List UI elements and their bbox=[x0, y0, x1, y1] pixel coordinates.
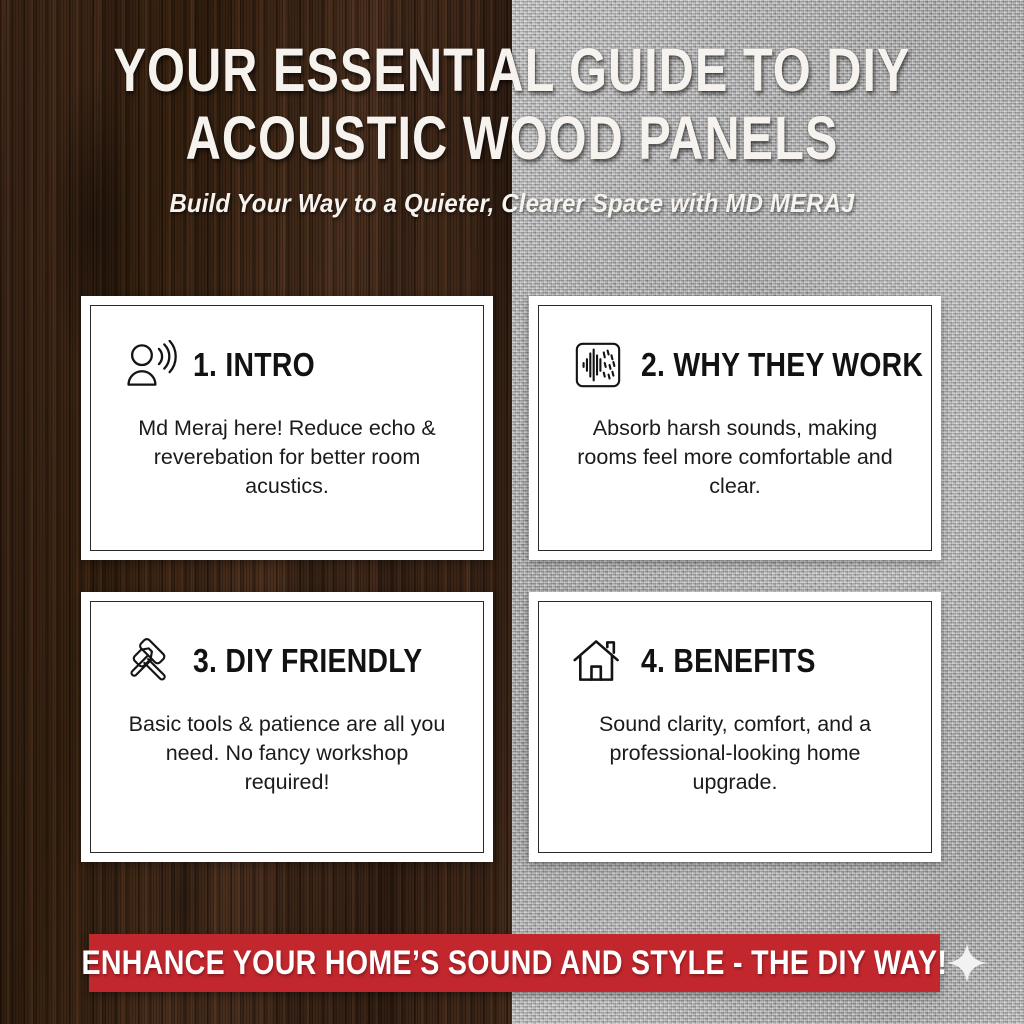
house-icon bbox=[571, 636, 625, 686]
sparkle-icon bbox=[946, 942, 988, 984]
infographic-poster: YOUR ESSENTIAL GUIDE TO DIY ACOUSTIC WOO… bbox=[0, 0, 1024, 1024]
poster-content: YOUR ESSENTIAL GUIDE TO DIY ACOUSTIC WOO… bbox=[0, 0, 1024, 1024]
card-intro: 1. INTRO Md Meraj here! Reduce echo & re… bbox=[81, 296, 493, 560]
card-header: 2. WHY THEY WORK bbox=[559, 340, 911, 390]
card-header: 4. BENEFITS bbox=[559, 636, 911, 686]
card-inner: 2. WHY THEY WORK Absorb harsh sounds, ma… bbox=[538, 305, 932, 551]
page-title: YOUR ESSENTIAL GUIDE TO DIY ACOUSTIC WOO… bbox=[102, 0, 921, 172]
banner-text: ENHANCE YOUR HOME’S SOUND AND STYLE - TH… bbox=[82, 944, 948, 983]
card-benefits: 4. BENEFITS Sound clarity, comfort, and … bbox=[529, 592, 941, 862]
card-header: 1. INTRO bbox=[111, 340, 463, 390]
card-body: Basic tools & patience are all you need.… bbox=[111, 710, 463, 797]
person-soundwaves-icon bbox=[123, 340, 177, 390]
card-diy-friendly: 3. DIY FRIENDLY Basic tools & patience a… bbox=[81, 592, 493, 862]
card-title: 2. WHY THEY WORK bbox=[641, 348, 923, 382]
page-subtitle: Build Your Way to a Quieter, Clearer Spa… bbox=[41, 188, 983, 219]
card-inner: 4. BENEFITS Sound clarity, comfort, and … bbox=[538, 601, 932, 853]
card-body: Sound clarity, comfort, and a profession… bbox=[559, 710, 911, 797]
card-why-they-work: 2. WHY THEY WORK Absorb harsh sounds, ma… bbox=[529, 296, 941, 560]
card-title: 4. BENEFITS bbox=[641, 644, 816, 678]
card-inner: 3. DIY FRIENDLY Basic tools & patience a… bbox=[90, 601, 484, 853]
sound-absorption-panel-icon bbox=[571, 340, 625, 390]
title-line-1: YOUR ESSENTIAL GUIDE TO DIY bbox=[102, 36, 921, 104]
card-inner: 1. INTRO Md Meraj here! Reduce echo & re… bbox=[90, 305, 484, 551]
header: YOUR ESSENTIAL GUIDE TO DIY ACOUSTIC WOO… bbox=[0, 0, 1024, 219]
title-line-2: ACOUSTIC WOOD PANELS bbox=[102, 104, 921, 172]
card-title: 3. DIY FRIENDLY bbox=[193, 644, 422, 678]
card-body: Absorb harsh sounds, making rooms feel m… bbox=[559, 414, 911, 501]
crossed-hammers-icon bbox=[123, 636, 177, 686]
card-body: Md Meraj here! Reduce echo & reverebatio… bbox=[111, 414, 463, 501]
card-title: 1. INTRO bbox=[193, 348, 315, 382]
card-header: 3. DIY FRIENDLY bbox=[111, 636, 463, 686]
call-to-action-banner: ENHANCE YOUR HOME’S SOUND AND STYLE - TH… bbox=[89, 934, 940, 992]
